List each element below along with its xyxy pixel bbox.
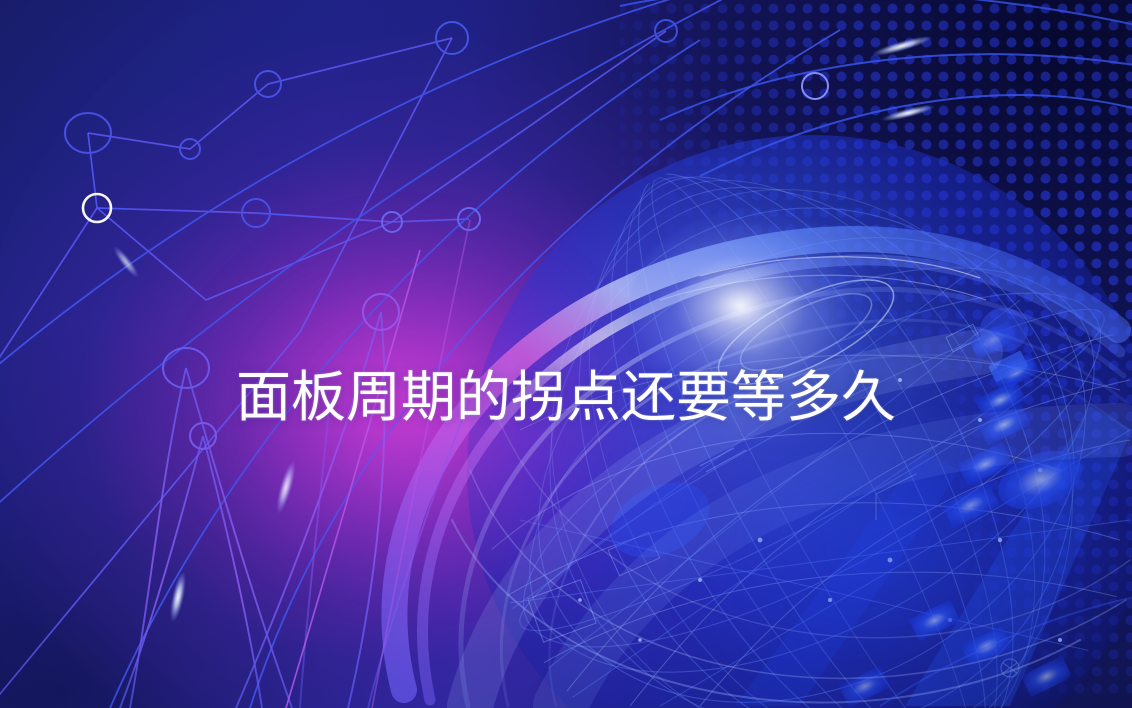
page-title: 面板周期的拐点还要等多久 [236,367,896,429]
blue-lower-glow [700,430,1120,708]
hero-title-container: 面板周期的拐点还要等多久 [0,330,1132,465]
hero-banner: 面板周期的拐点还要等多久 [0,0,1132,708]
